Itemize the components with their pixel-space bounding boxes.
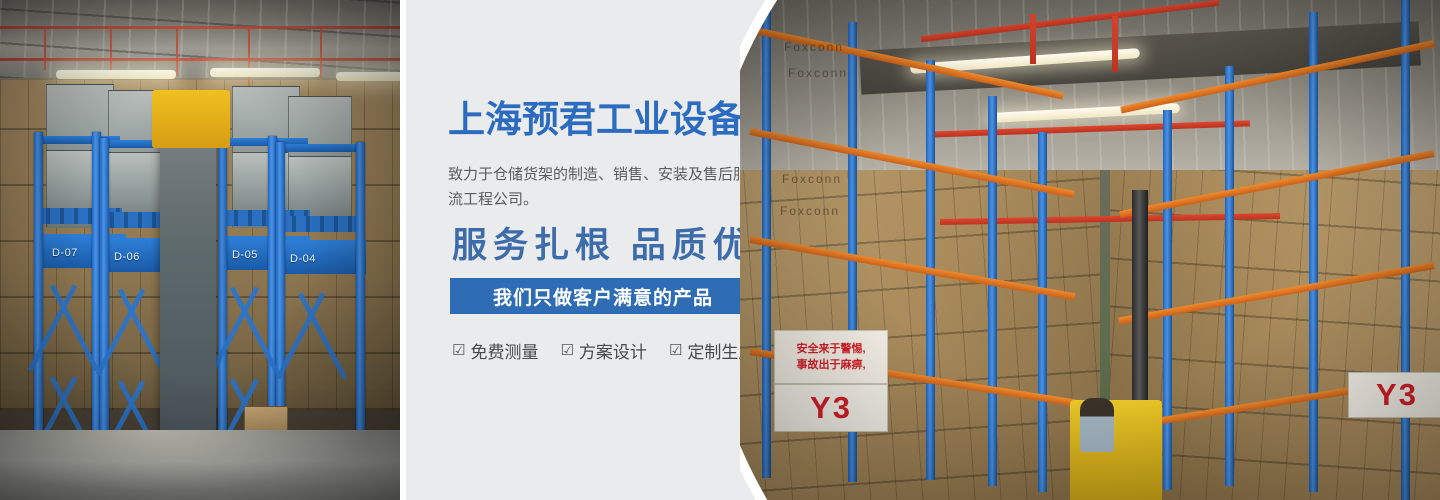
feature-label: 免费测量 (470, 338, 538, 363)
photo-vignette (740, 0, 1440, 500)
right-warehouse-photo-wrap: Foxconn Foxconn Foxconn Foxconn 安全来于警惕, … (740, 0, 1440, 500)
checkbox-check-icon: ☑ (560, 343, 573, 358)
checkbox-check-icon: ☑ (669, 343, 682, 358)
right-warehouse-photo: Foxconn Foxconn Foxconn Foxconn 安全来于警惕, … (740, 0, 1440, 500)
cta-button-label: 我们只做客户满意的产品 (493, 283, 713, 310)
cta-button[interactable]: 我们只做客户满意的产品 (450, 278, 756, 314)
left-photo-scene: D-07 D-06 D-05 D-04 (0, 0, 400, 500)
feature-list: ☑ 免费测量 ☑ 方案设计 ☑ 定制生产 (452, 338, 755, 363)
right-photo-scene: Foxconn Foxconn Foxconn Foxconn 安全来于警惕, … (740, 0, 1440, 500)
checkbox-check-icon: ☑ (452, 343, 465, 358)
feature-item-free-measurement: ☑ 免费测量 (452, 338, 538, 363)
photo-vignette (0, 0, 400, 500)
feature-label: 方案设计 (579, 338, 647, 363)
feature-item-solution-design: ☑ 方案设计 (560, 338, 646, 363)
right-photo-inner: Foxconn Foxconn Foxconn Foxconn 安全来于警惕, … (740, 0, 1440, 500)
left-warehouse-photo: D-07 D-06 D-05 D-04 (0, 0, 400, 500)
hero-banner: D-07 D-06 D-05 D-04 (0, 0, 1440, 500)
